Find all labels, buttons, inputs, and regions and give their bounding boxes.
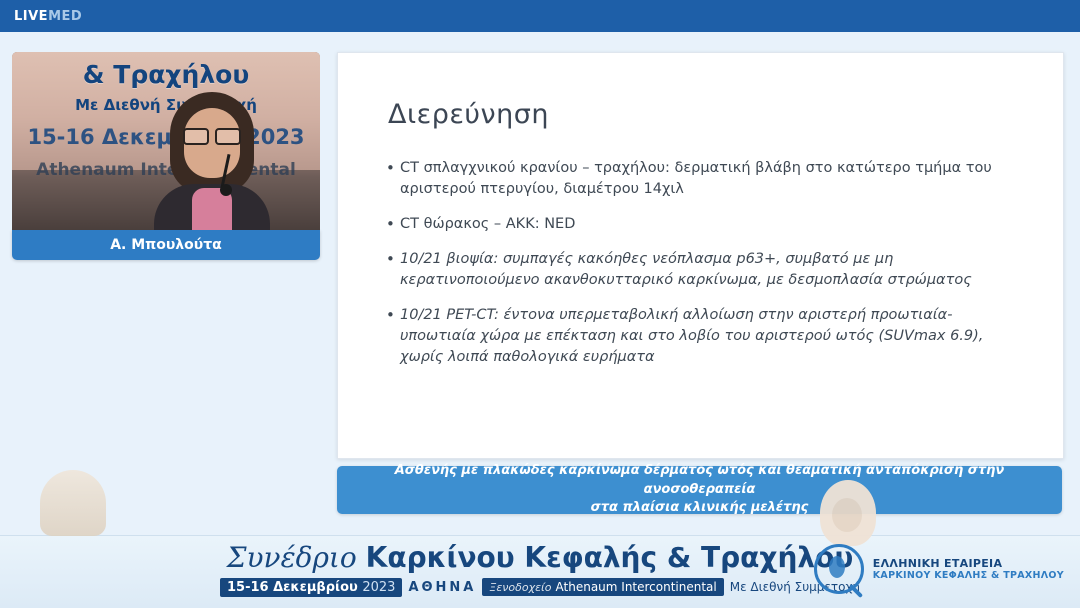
- presentation-title-bar: Ασθενής με πλακώδες καρκίνωμα δέρματος ω…: [337, 466, 1062, 514]
- logo-live-text: LIVE: [14, 9, 48, 24]
- bullet-dot-icon: •: [386, 249, 400, 270]
- top-bar: LIVEMED: [0, 0, 1080, 32]
- podium-decoration: [40, 470, 106, 536]
- speaker-panel[interactable]: & Τραχήλου Με Διεθνή Συμμετοχή 15-16 Δεκ…: [12, 52, 320, 260]
- conference-title-bold: Καρκίνου Κεφαλής & Τραχήλου: [366, 541, 854, 574]
- speaker-name-label: Α. Μπουλούτα: [110, 237, 222, 253]
- conference-title-italic: Συνέδριο: [227, 541, 357, 574]
- date-chip: 15-16 Δεκεμβρίου 2023: [220, 578, 402, 597]
- hotel-chip: ΞενοδοχείοAthenaum Intercontinental: [482, 578, 723, 596]
- list-item: • CT σπλαγχνικού κρανίου – τραχήλου: δερ…: [386, 158, 1016, 200]
- caption-line-1: Ασθενής με πλακώδες καρκίνωμα δέρματος ω…: [337, 462, 1062, 500]
- bullet-dot-icon: •: [386, 158, 400, 179]
- livemed-logo: LIVEMED: [14, 9, 82, 24]
- city-label: ΑΘΗΝΑ: [408, 580, 476, 595]
- hotel-name: Athenaum Intercontinental: [556, 580, 717, 594]
- slide-area[interactable]: Διερεύνηση • CT σπλαγχνικού κρανίου – τρ…: [337, 52, 1064, 459]
- bullet-text: 10/21 PET-CT: έντονα υπερμεταβολική αλλο…: [400, 305, 1016, 368]
- speaker-figure: [152, 92, 272, 230]
- speaker-name-bar: Α. Μπουλούτα: [12, 230, 320, 260]
- glasses-icon: [183, 128, 241, 141]
- bullet-text: 10/21 βιοψία: συμπαγές κακόηθες νεόπλασμ…: [400, 249, 1016, 291]
- bullet-text: CT θώρακος – ΑΚΚ: NED: [400, 214, 1016, 235]
- society-mark-icon: [814, 544, 864, 594]
- microphone-icon: [220, 184, 232, 196]
- hotel-label: Ξενοδοχείο: [489, 581, 551, 594]
- list-item: • CT θώρακος – ΑΚΚ: NED: [386, 214, 1016, 235]
- head-silhouette-decoration: [820, 480, 876, 546]
- slide-title: Διερεύνηση: [388, 99, 549, 130]
- slide-bullet-list: • CT σπλαγχνικού κρανίου – τραχήλου: δερ…: [386, 158, 1016, 382]
- date-chip-text: 15-16 Δεκεμβρίου: [227, 580, 358, 595]
- list-item: • 10/21 βιοψία: συμπαγές κακόηθες νεόπλα…: [386, 249, 1016, 291]
- speaker-video[interactable]: & Τραχήλου Με Διεθνή Συμμετοχή 15-16 Δεκ…: [12, 52, 320, 230]
- society-line-2: ΚΑΡΚΙΝΟΥ ΚΕΦΑΛΗΣ & ΤΡΑΧΗΛΟΥ: [873, 570, 1064, 581]
- list-item: • 10/21 PET-CT: έντονα υπερμεταβολική αλ…: [386, 305, 1016, 368]
- bullet-dot-icon: •: [386, 305, 400, 326]
- society-line-1: ΕΛΛΗΝΙΚΗ ΕΤΑΙΡΕΙΑ: [873, 557, 1064, 570]
- footer-bar: Συνέδριο Καρκίνου Κεφαλής & Τραχήλου 15-…: [0, 535, 1080, 608]
- bullet-text: CT σπλαγχνικού κρανίου – τραχήλου: δερμα…: [400, 158, 1016, 200]
- caption-line-2: στα πλαίσια κλινικής μελέτης: [591, 499, 809, 518]
- date-chip-year: 2023: [362, 580, 395, 595]
- logo-med-text: MED: [48, 9, 82, 24]
- banner-title: & Τραχήλου: [12, 60, 320, 89]
- society-logo: ΕΛΛΗΝΙΚΗ ΕΤΑΙΡΕΙΑ ΚΑΡΚΙΝΟΥ ΚΕΦΑΛΗΣ & ΤΡΑ…: [814, 544, 1064, 594]
- bullet-dot-icon: •: [386, 214, 400, 235]
